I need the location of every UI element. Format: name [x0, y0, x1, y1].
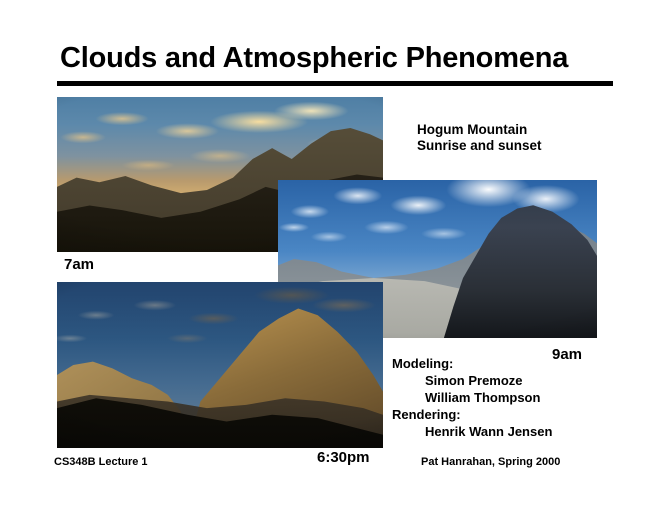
time-label-9am: 9am — [552, 346, 582, 363]
slide-canvas: Clouds and Atmospheric Phenomena 7am 9am… — [0, 0, 660, 510]
page-title: Clouds and Atmospheric Phenomena — [60, 42, 568, 75]
subject-line-1: Hogum Mountain — [417, 122, 542, 138]
rendering-person-1: Henrik Wann Jensen — [392, 423, 552, 440]
title-divider — [57, 81, 613, 86]
time-label-630pm: 6:30pm — [317, 449, 370, 466]
image-sunset-630pm — [57, 282, 383, 448]
time-label-7am: 7am — [64, 256, 94, 273]
subject-line-2: Sunrise and sunset — [417, 138, 542, 154]
vignette-layer — [57, 282, 383, 448]
modeling-person-1: Simon Premoze — [392, 372, 552, 389]
footer-course: CS348B Lecture 1 — [54, 456, 148, 468]
footer-author: Pat Hanrahan, Spring 2000 — [421, 456, 560, 468]
modeling-label: Modeling: — [392, 355, 552, 372]
rendering-label: Rendering: — [392, 406, 552, 423]
credits-block: Modeling: Simon Premoze William Thompson… — [392, 355, 552, 440]
subject-caption: Hogum Mountain Sunrise and sunset — [417, 122, 542, 154]
modeling-person-2: William Thompson — [392, 389, 552, 406]
